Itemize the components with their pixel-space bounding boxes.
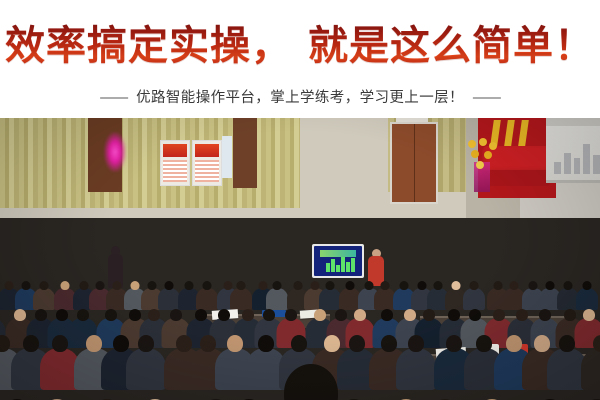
classroom-photo	[0, 118, 600, 400]
headline-part-2: 就是这么简单！	[308, 22, 595, 69]
promo-banner: 效率搞定实操，就是这么简单！ ——优路智能操作平台，掌上学练考，学习更上一层！—…	[0, 0, 600, 400]
headline: 效率搞定实操，就是这么简单！	[0, 22, 600, 70]
subheadline-text: 优路智能操作平台，掌上学练考，学习更上一层！	[136, 90, 464, 106]
subheadline: ——优路智能操作平台，掌上学练考，学习更上一层！——	[0, 88, 600, 108]
photo-vignette	[0, 118, 600, 400]
dash-right: ——	[473, 90, 500, 106]
dash-left: ——	[100, 90, 127, 106]
headline-part-1: 效率搞定实操，	[5, 22, 292, 69]
banner-header: 效率搞定实操，就是这么简单！ ——优路智能操作平台，掌上学练考，学习更上一层！—…	[0, 0, 600, 118]
